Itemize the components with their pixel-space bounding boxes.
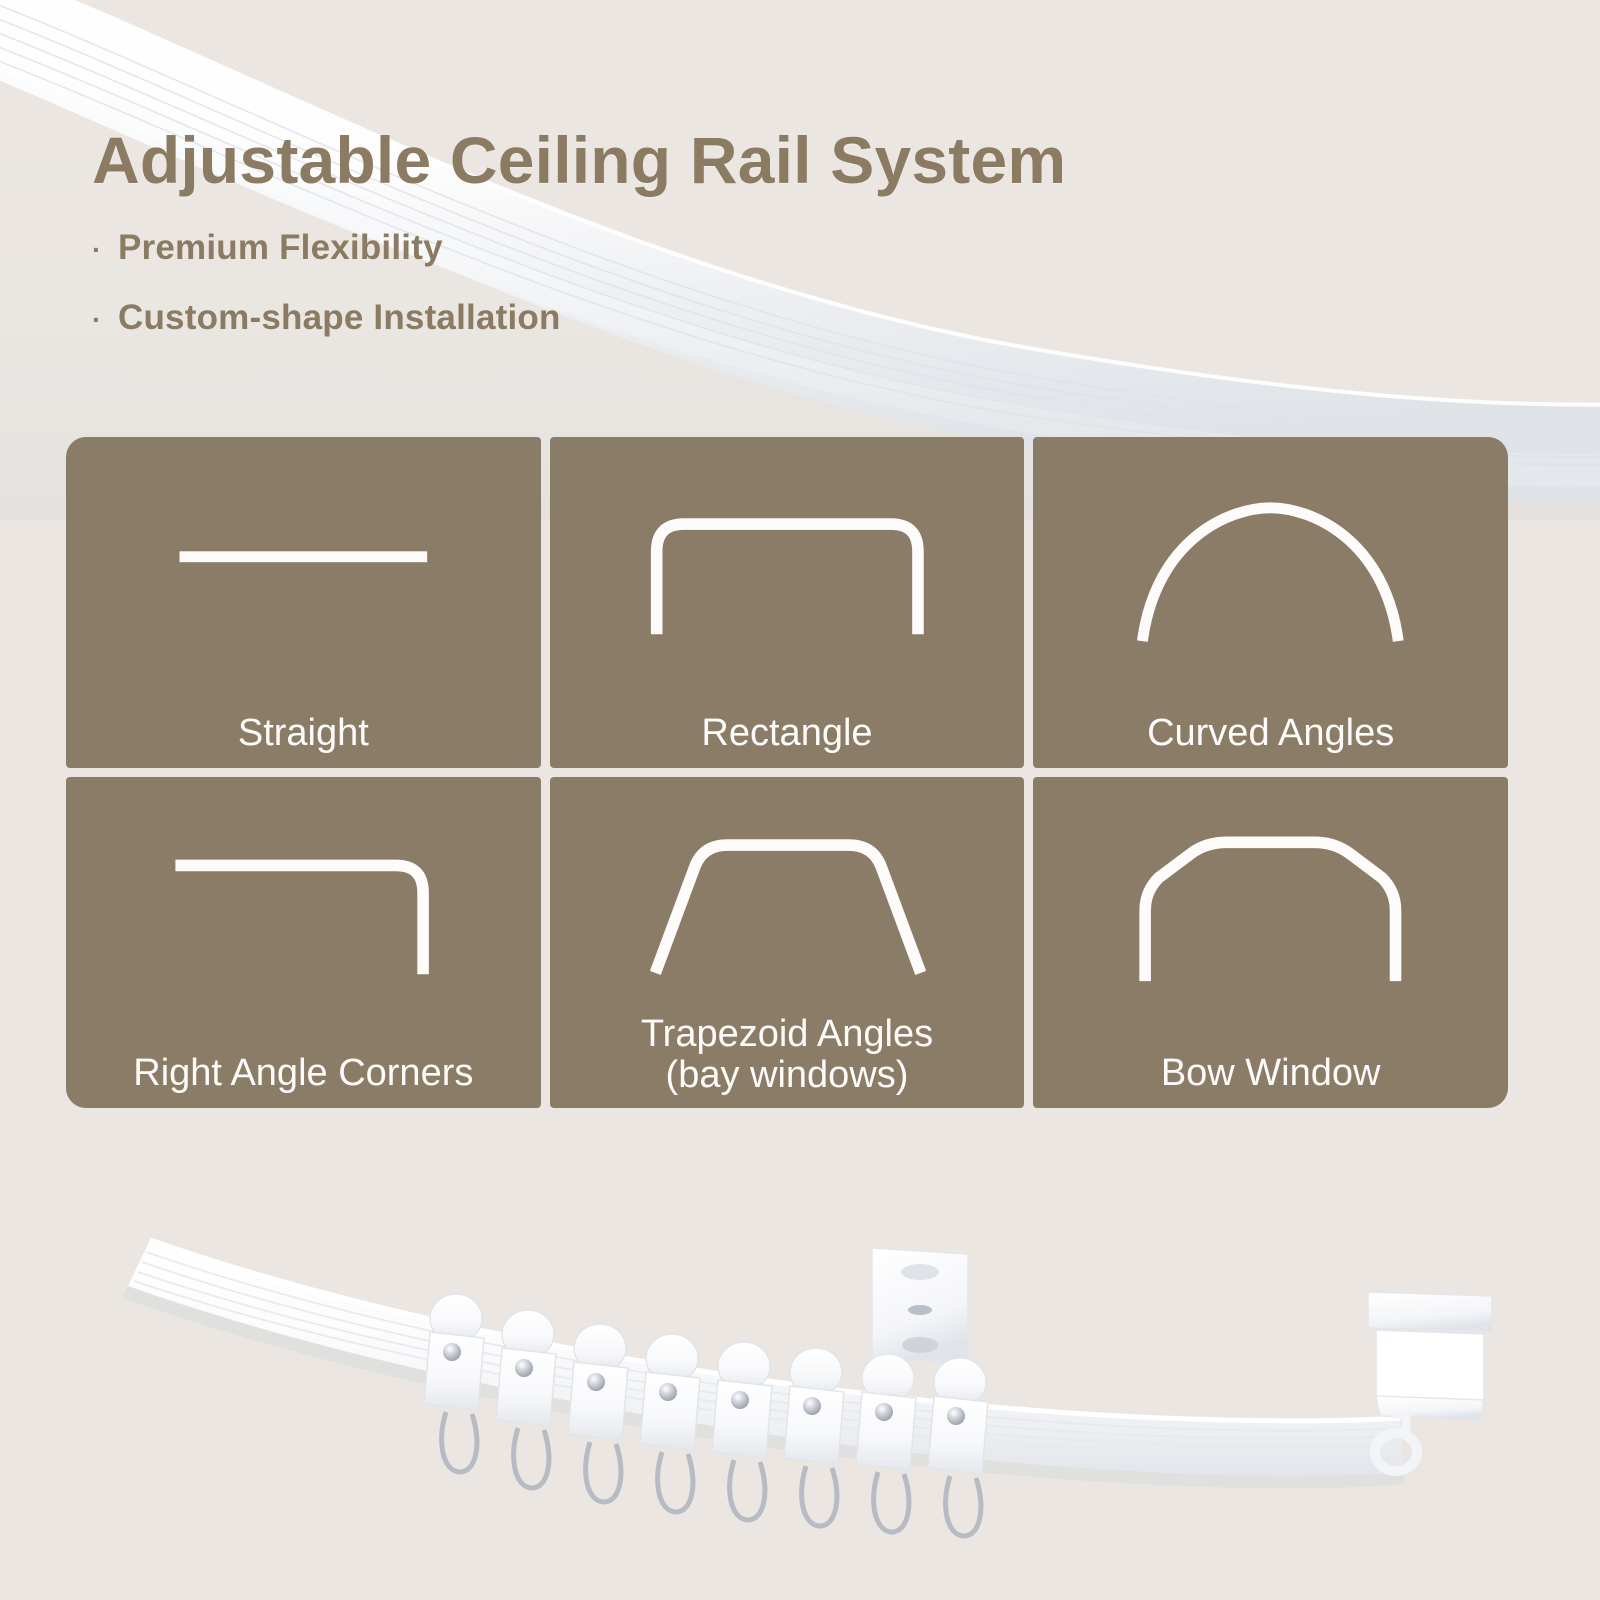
curved-arc-shape-icon (1033, 437, 1508, 682)
shape-card-rectangle[interactable]: Rectangle (550, 437, 1025, 768)
bullet-dot-icon: · (92, 306, 118, 334)
infographic-page: Adjustable Ceiling Rail System · Premium… (0, 0, 1600, 1600)
shape-card-label: Curved Angles (1033, 713, 1508, 754)
shape-card-label-group: Trapezoid Angles (bay windows) (550, 1014, 1025, 1096)
end-cap (1368, 1292, 1492, 1420)
shape-card-right-angle-corners[interactable]: Right Angle Corners (66, 777, 541, 1108)
shape-card-curved-angles[interactable]: Curved Angles (1033, 437, 1508, 768)
rail-body (128, 1240, 1404, 1476)
roller-glider (928, 1358, 988, 1536)
shape-card-bow-window[interactable]: Bow Window (1033, 777, 1508, 1108)
shape-card-label: Rectangle (550, 713, 1025, 754)
bow-window-shape-icon (1033, 777, 1508, 1022)
product-photo-svg (0, 1100, 1600, 1600)
roller-glider (568, 1324, 628, 1502)
feature-bullet-list: · Premium Flexibility · Custom-shape Ins… (92, 228, 1392, 338)
shape-card-trapezoid-angles[interactable]: Trapezoid Angles (bay windows) (550, 777, 1025, 1108)
straight-line-shape-icon (66, 437, 541, 682)
page-title: Adjustable Ceiling Rail System (92, 126, 1392, 196)
trapezoid-shape-icon (550, 777, 1025, 1022)
feature-bullet-item: · Custom-shape Installation (92, 298, 1392, 338)
shape-card-label: Trapezoid Angles (641, 1013, 933, 1055)
roller-glider (712, 1342, 772, 1520)
rail-top-edge (150, 1240, 1400, 1421)
shape-card-sublabel: (bay windows) (558, 1055, 1017, 1096)
shape-card-label: Bow Window (1033, 1053, 1508, 1094)
roller-glider (424, 1294, 484, 1472)
roller-glider (496, 1310, 556, 1488)
rail-under-shadow (122, 1286, 1404, 1488)
heading-block: Adjustable Ceiling Rail System · Premium… (92, 126, 1392, 368)
hook-eye (1375, 1414, 1417, 1471)
roller-glider (640, 1334, 700, 1512)
ceiling-mount-bracket (872, 1248, 968, 1382)
shape-card-straight[interactable]: Straight (66, 437, 541, 768)
feature-bullet-label: Premium Flexibility (118, 228, 443, 268)
roller-glider-group (424, 1294, 988, 1536)
roller-glider (784, 1348, 844, 1526)
roller-glider (856, 1354, 916, 1532)
feature-bullet-label: Custom-shape Installation (118, 298, 561, 338)
curved-rail-with-rollers-photo (0, 1100, 1600, 1600)
shape-card-label: Straight (66, 713, 541, 754)
rail-ribbing (134, 1252, 1400, 1455)
shape-options-grid: Straight Rectangle Curved Angles (66, 437, 1508, 1108)
rectangle-shape-icon (550, 437, 1025, 682)
feature-bullet-item: · Premium Flexibility (92, 228, 1392, 268)
bullet-dot-icon: · (92, 236, 118, 264)
right-angle-corner-shape-icon (66, 777, 541, 1022)
shape-card-label: Right Angle Corners (66, 1053, 541, 1094)
